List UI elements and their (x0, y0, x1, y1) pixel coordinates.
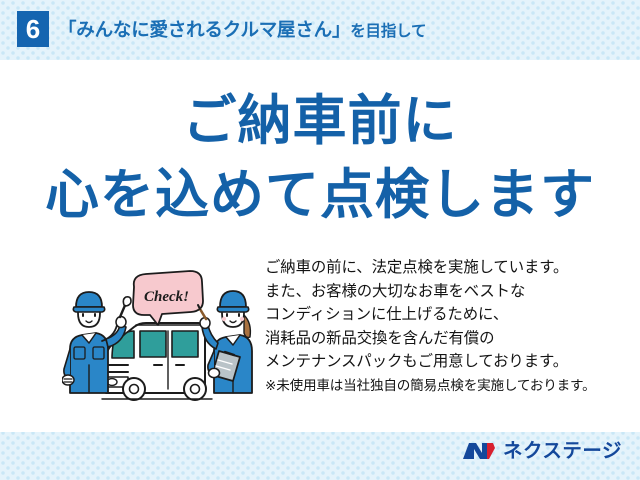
nextage-logo: ネクステージ (462, 440, 622, 462)
header-title-quoted: 「みんなに愛されるクルマ屋さん」 (58, 19, 350, 40)
headline-line-2: 心を込めて点検します (0, 165, 640, 225)
content-panel: ご納車前に 心を込めて点検します ご納車の前に、法定点検を実施しています。 また… (0, 60, 640, 432)
banner-header: 6 「みんなに愛されるクルマ屋さん」を目指して (0, 0, 640, 60)
promo-banner: 6 「みんなに愛されるクルマ屋さん」を目指して ご納車前に 心を込めて点検します… (0, 0, 640, 480)
headline-line-1: ご納車前に (0, 91, 640, 151)
body-line: メンテナンスパックもご用意しております。 (265, 350, 615, 374)
body-line: また、お客様の大切なお車をベストな (265, 280, 615, 304)
nextage-n-logo-icon (462, 440, 496, 462)
body-paragraph: ご納車の前に、法定点検を実施しています。 また、お客様の大切なお車をベストな コ… (265, 256, 615, 398)
brand-name: ネクステージ (503, 440, 622, 462)
section-number-badge: 6 (17, 11, 49, 47)
body-note: ※未使用車は当社独自の簡易点検を実施しております。 (265, 374, 615, 398)
header-title: 「みんなに愛されるクルマ屋さん」を目指して (58, 12, 426, 48)
mechanics-illustration: Check! (62, 265, 262, 405)
header-title-tail: を目指して (350, 23, 426, 40)
mechanic-right-figure (198, 291, 252, 393)
banner-footer: ネクステージ (0, 432, 640, 480)
body-line: 消耗品の新品交換を含んだ有償の (265, 327, 615, 351)
speech-bubble-text: Check! (144, 289, 189, 305)
body-line: コンディションに仕上げるために、 (265, 303, 615, 327)
body-line: ご納車の前に、法定点検を実施しています。 (265, 256, 615, 280)
